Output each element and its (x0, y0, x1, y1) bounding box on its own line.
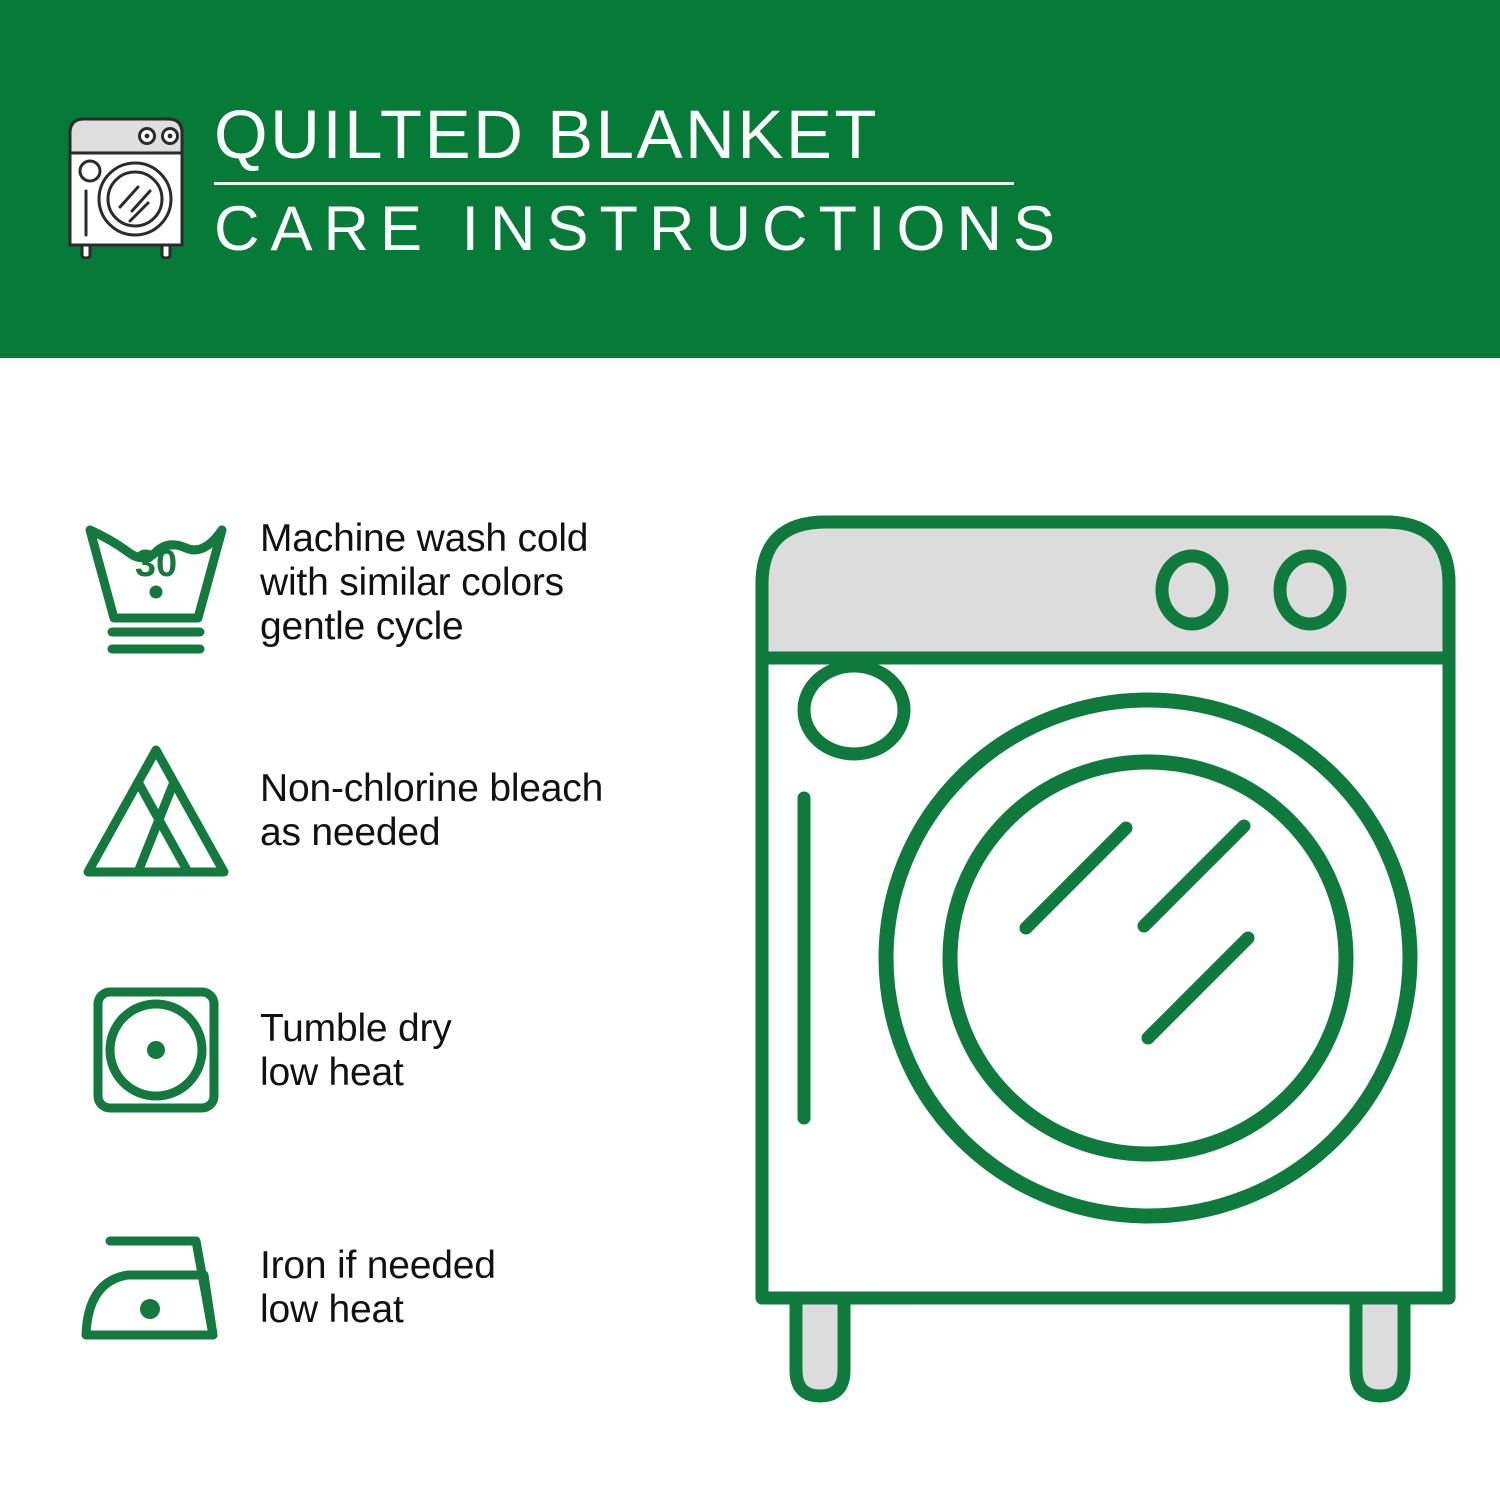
care-text-wash: Machine wash cold with similar colors ge… (260, 517, 588, 649)
wash-temperature-value: 30 (135, 543, 177, 585)
care-line: Tumble dry (260, 1007, 452, 1051)
page-subtitle: CARE INSTRUCTIONS (214, 195, 1066, 263)
page-title: QUILTED BLANKET (214, 97, 1066, 173)
bleach-triangle-non-chlorine-icon (70, 731, 242, 891)
care-text-tumble-dry: Tumble dry low heat (260, 1007, 452, 1095)
care-line: Machine wash cold (260, 517, 588, 561)
detergent-indicator-circle (804, 666, 904, 754)
care-line: as needed (260, 811, 603, 855)
body-area: 30 Machine wash cold with similar colors… (0, 358, 1500, 1500)
knob-left[interactable] (1162, 556, 1222, 624)
tumble-dry-low-heat-icon (70, 971, 242, 1131)
care-instructions-infographic: QUILTED BLANKET CARE INSTRUCTIONS 30 (0, 0, 1500, 1500)
care-row-tumble-dry: Tumble dry low heat (70, 971, 710, 1131)
header-band: QUILTED BLANKET CARE INSTRUCTIONS (0, 0, 1500, 358)
door-inner-ring (950, 762, 1346, 1154)
care-line: gentle cycle (260, 605, 588, 649)
iron-low-heat-icon (70, 1208, 242, 1368)
care-line: low heat (260, 1288, 496, 1332)
care-line: Non-chlorine bleach (260, 767, 603, 811)
wash-tub-30-gentle-icon: 30 (70, 503, 242, 663)
header-titles: QUILTED BLANKET CARE INSTRUCTIONS (214, 95, 1066, 263)
care-row-bleach: Non-chlorine bleach as needed (70, 731, 710, 891)
header-content: QUILTED BLANKET CARE INSTRUCTIONS (60, 95, 1060, 280)
care-row-iron: Iron if needed low heat (70, 1208, 710, 1368)
washing-machine-icon (60, 99, 192, 259)
title-divider (214, 182, 1014, 185)
knob-right[interactable] (1280, 556, 1340, 624)
care-text-bleach: Non-chlorine bleach as needed (260, 767, 603, 855)
care-text-iron: Iron if needed low heat (260, 1244, 496, 1332)
care-line: with similar colors (260, 561, 588, 605)
care-row-wash: 30 Machine wash cold with similar colors… (70, 503, 710, 663)
care-line: low heat (260, 1051, 452, 1095)
care-line: Iron if needed (260, 1244, 496, 1288)
front-load-washing-machine-illustration (748, 498, 1463, 1423)
